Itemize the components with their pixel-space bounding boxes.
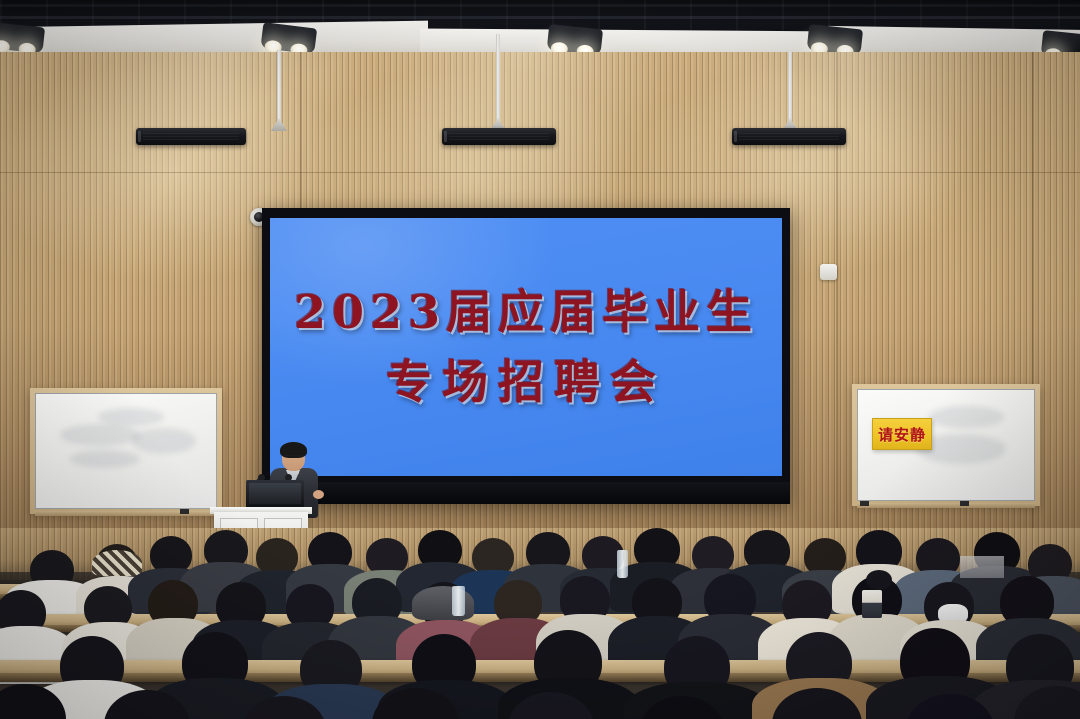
whiteboard-surface [35,393,217,509]
coffee-cup [862,590,882,618]
ceiling-spotlight [807,24,863,56]
knit-hat [92,550,142,576]
ceiling-beam [0,4,1080,7]
speaker-grill [449,133,549,140]
ceiling-speaker [732,128,846,145]
ceiling-speaker [136,128,246,145]
whiteboard-marker [960,501,969,506]
ceiling-spotlight [0,22,45,54]
eraser-smudge [70,450,140,468]
speaker-grill [739,133,839,140]
lecture-hall-photo: 2023届应届毕业生 专场招聘会 请安静 [0,0,1080,719]
presenter-hand [313,490,324,499]
ceiling-beam [0,16,1080,19]
screen-bezel-bottom [262,482,790,504]
slide-headline-line2: 专场招聘会 [270,346,782,412]
whiteboard-marker [860,501,869,506]
water-bottle [452,586,465,616]
hair-bun [866,570,892,590]
eraser-smudge [98,408,164,426]
projection-screen: 2023届应届毕业生 专场招聘会 [262,208,790,504]
ceiling-speaker [442,128,556,145]
ceiling-spotlight [260,22,317,54]
speaker-grill [143,133,239,140]
audience-area: LONG [0,528,1080,719]
quiet-notice-sign: 请安静 [872,418,932,450]
whiteboard-tray [35,511,217,516]
speaker-edge [138,131,141,142]
eraser-smudge [60,424,140,446]
wall-sensor-icon [820,264,837,280]
whiteboard-surface: 请安静 [857,389,1035,501]
whiteboard-marker [180,509,189,514]
wall-seam [836,52,838,552]
speaker-edge [734,131,737,142]
eraser-smudge [132,428,196,454]
whiteboard-tray [857,503,1035,508]
speaker-mount-pole [496,34,500,130]
podium-monitor [246,480,304,510]
whiteboard-left [30,388,222,514]
quiet-notice-text: 请安静 [878,424,926,445]
slide-headline-line1: 2023届应届毕业生 [270,276,782,342]
laptop [960,556,1004,578]
ceiling-spotlight [547,24,603,56]
eraser-smudge [928,406,1004,428]
speaker-edge [444,131,447,142]
whiteboard-right: 请安静 [852,384,1040,506]
projection-screen-surface: 2023届应届毕业生 专场招聘会 [270,218,782,476]
water-bottle [617,550,628,578]
wall-seam [0,172,1080,173]
glasses-icon [284,455,303,461]
